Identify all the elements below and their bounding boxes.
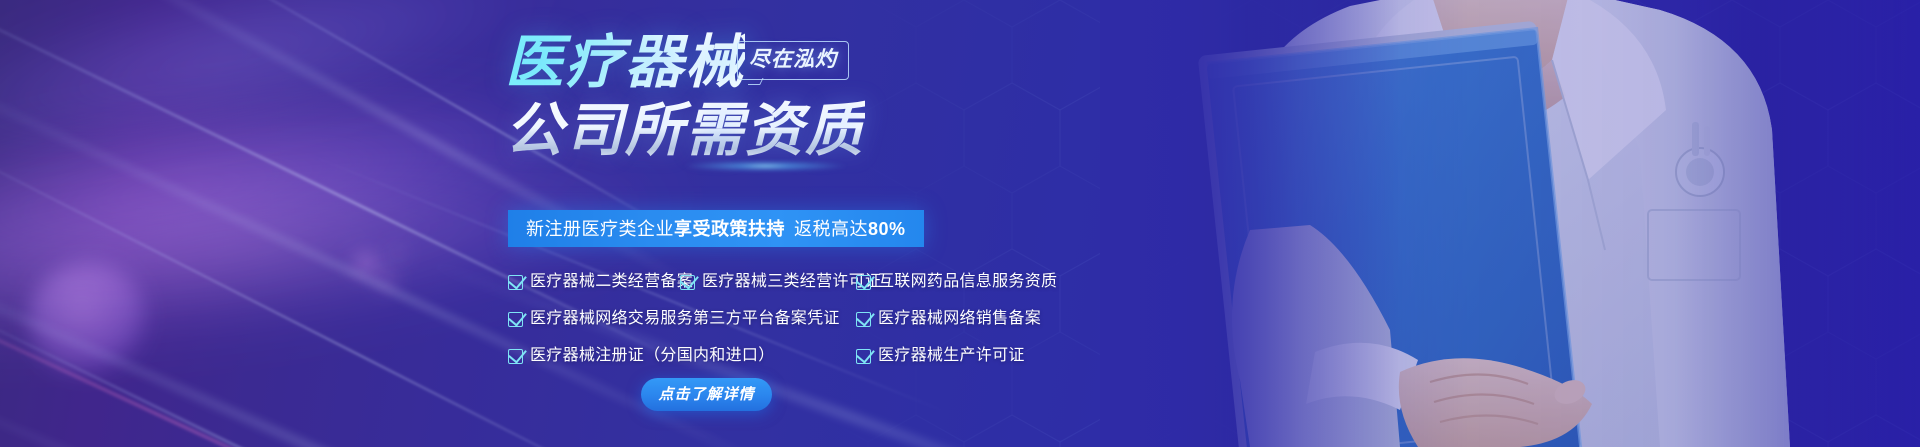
headline-line-1: 医疗器械 尽在泓灼 (505, 32, 1065, 94)
checkbox-checked-icon (856, 349, 871, 364)
headline-line-1-text: 医疗器械 (505, 32, 745, 94)
checklist-row: 医疗器械网络交易服务第三方平台备案凭证 医疗器械网络销售备案 (508, 305, 1068, 333)
list-item-label: 医疗器械注册证（分国内和进口） (530, 348, 775, 364)
learn-more-button-label: 点击了解详情 (658, 387, 754, 402)
list-item-label: 医疗器械网络交易服务第三方平台备案凭证 (530, 311, 840, 327)
list-item[interactable]: 医疗器械二类经营备案 (508, 274, 680, 290)
list-item[interactable]: 医疗器械三类经营许可证 (680, 274, 856, 290)
list-item[interactable]: 医疗器械注册证（分国内和进口） (508, 348, 856, 364)
checkbox-checked-icon (508, 349, 523, 364)
doctor-photo (1100, 0, 1920, 447)
list-item-label: 医疗器械二类经营备案 (530, 274, 693, 290)
list-item-label: 医疗器械网络销售备案 (878, 311, 1041, 327)
list-item-label: 医疗器械生产许可证 (878, 348, 1025, 364)
speech-bubble-tail-icon (748, 78, 768, 94)
checkbox-checked-icon (680, 275, 695, 290)
policy-ribbon: 新注册医疗类企业享受政策扶持返税高达80% (508, 210, 924, 247)
ribbon-emphasis: 享受政策扶持 (674, 219, 785, 239)
checkbox-checked-icon (856, 275, 871, 290)
list-item[interactable]: 医疗器械网络销售备案 (856, 311, 1041, 327)
list-item[interactable]: 医疗器械网络交易服务第三方平台备案凭证 (508, 311, 856, 327)
headline-line-2-text: 公司所需资质 (505, 98, 865, 163)
checklist-row: 医疗器械注册证（分国内和进口） 医疗器械生产许可证 (508, 342, 1068, 370)
ribbon-tail-emphasis: 80% (868, 219, 906, 239)
medical-device-qualification-banner: 医疗器械 尽在泓灼 公司所需资质 新注册医疗类企业享受政策扶持返税高达80% 医… (0, 0, 1920, 447)
slogan-badge-text: 尽在泓灼 (749, 48, 837, 71)
policy-ribbon-text: 新注册医疗类企业享受政策扶持返税高达80% (526, 220, 906, 238)
list-item[interactable]: 医疗器械生产许可证 (856, 348, 1025, 364)
headline-line-2: 公司所需资质 (505, 98, 1065, 164)
learn-more-button[interactable]: 点击了解详情 (641, 378, 772, 411)
list-item-label: 医疗器械三类经营许可证 (702, 274, 881, 290)
qualification-checklist: 医疗器械二类经营备案 医疗器械三类经营许可证 互联网药品信息服务资质 医疗器械网… (508, 268, 1068, 379)
ribbon-tail: 返税高达 (794, 219, 868, 239)
headline-block: 医疗器械 尽在泓灼 公司所需资质 (505, 32, 1065, 164)
checkbox-checked-icon (856, 312, 871, 327)
checkbox-checked-icon (508, 275, 523, 290)
photo-left-fade (1100, 0, 1400, 447)
banner-content: 医疗器械 尽在泓灼 公司所需资质 新注册医疗类企业享受政策扶持返税高达80% 医… (0, 0, 1100, 447)
checklist-row: 医疗器械二类经营备案 医疗器械三类经营许可证 互联网药品信息服务资质 (508, 268, 1068, 296)
list-item-label: 互联网药品信息服务资质 (878, 274, 1057, 290)
checkbox-checked-icon (508, 312, 523, 327)
ribbon-lead: 新注册医疗类企业 (526, 219, 674, 239)
list-item[interactable]: 互联网药品信息服务资质 (856, 274, 1057, 290)
slogan-badge: 尽在泓灼 (737, 41, 849, 80)
lens-flare-icon (650, 160, 880, 172)
